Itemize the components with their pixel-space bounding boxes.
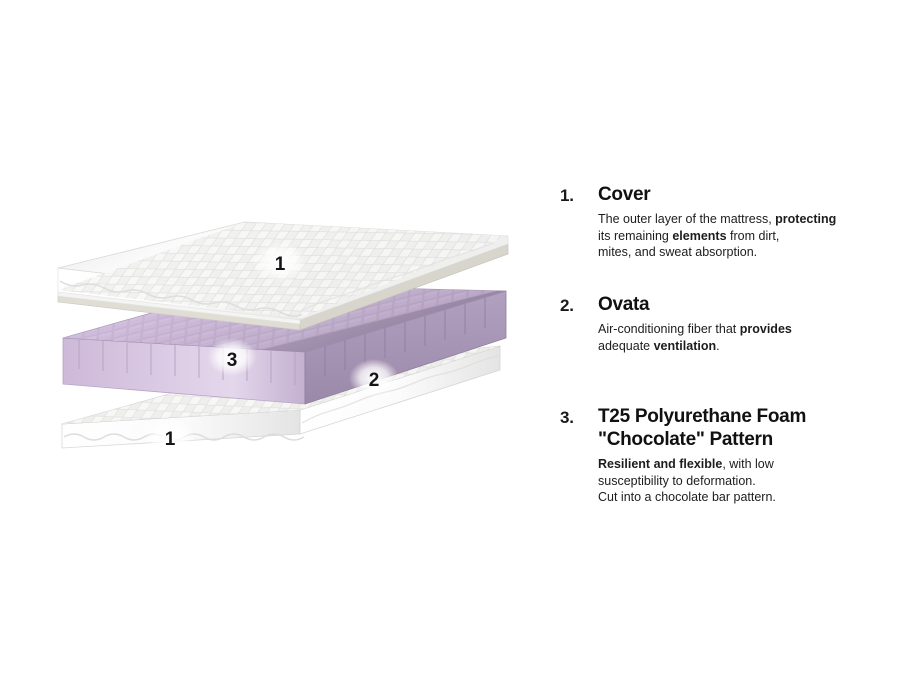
legend-list: 1. Cover The outer layer of the mattress… — [560, 0, 900, 675]
callout-label: 3 — [227, 350, 238, 371]
mattress-exploded-diagram: 1 3 2 1 — [0, 0, 540, 675]
legend-item-title: Cover — [598, 183, 880, 206]
legend-item-cover: 1. Cover The outer layer of the mattress… — [560, 183, 880, 261]
legend-item-description: The outer layer of the mattress, protect… — [598, 211, 880, 261]
legend-item-number: 1. — [560, 183, 598, 207]
callout-top-cover-1: 1 — [253, 242, 307, 282]
illustration-canvas: 1 3 2 1 1. Cover The outer layer of the … — [0, 0, 900, 675]
callout-foam-3: 3 — [207, 338, 257, 376]
callout-bottom-cover-1: 1 — [145, 418, 195, 456]
legend-item-polyurethane-foam: 3. T25 Polyurethane Foam "Chocolate" Pat… — [560, 405, 880, 506]
callout-label: 2 — [369, 370, 380, 391]
callout-ovata-2: 2 — [349, 359, 399, 397]
legend-item-ovata: 2. Ovata Air-conditioning fiber that pro… — [560, 293, 880, 354]
legend-item-description: Resilient and flexible, with lowsuscepti… — [598, 456, 880, 506]
legend-item-description: Air-conditioning fiber that providesadeq… — [598, 321, 880, 354]
callout-label: 1 — [165, 429, 176, 450]
legend-item-number: 3. — [560, 405, 598, 429]
legend-item-number: 2. — [560, 293, 598, 317]
legend-item-title: T25 Polyurethane Foam "Chocolate" Patter… — [598, 405, 880, 451]
legend-item-title: Ovata — [598, 293, 880, 316]
callout-label: 1 — [275, 254, 286, 275]
